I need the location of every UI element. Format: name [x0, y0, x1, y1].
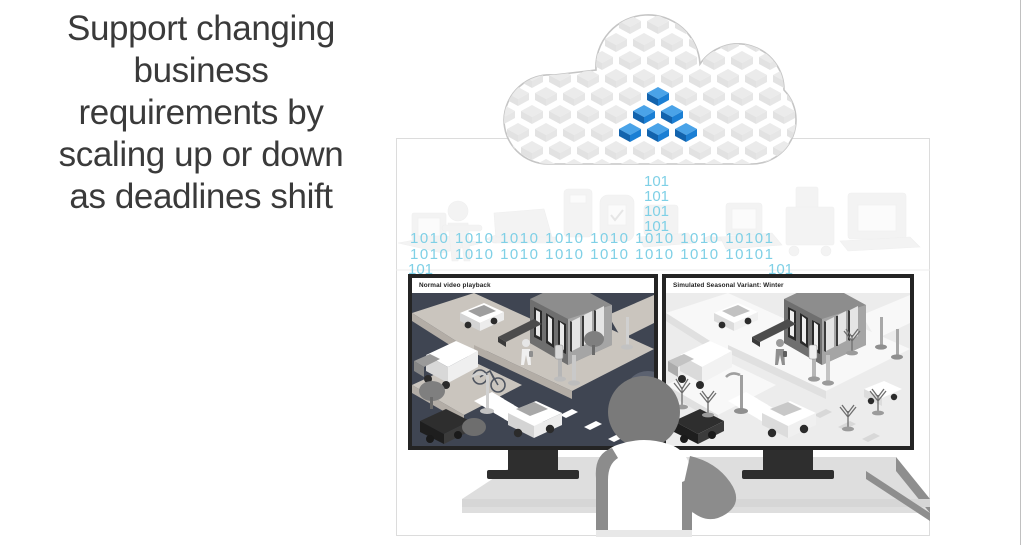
- monitor-stand-base-left: [487, 470, 579, 479]
- screen-label-right: Simulated Seasonal Variant: Winter: [673, 282, 784, 289]
- page-title: Support changing business requirements b…: [26, 8, 376, 218]
- slide-canvas: Support changing business requirements b…: [0, 0, 1024, 545]
- monitor-stand-neck-left: [508, 450, 558, 472]
- person-watching-from-behind: [570, 372, 760, 537]
- slide-right-edge-rule: [1020, 0, 1021, 545]
- cloud-hexagon-grid: [478, 0, 840, 198]
- screen-label-left: Normal video playback: [419, 282, 491, 289]
- monitor-stand-neck-right: [763, 450, 813, 472]
